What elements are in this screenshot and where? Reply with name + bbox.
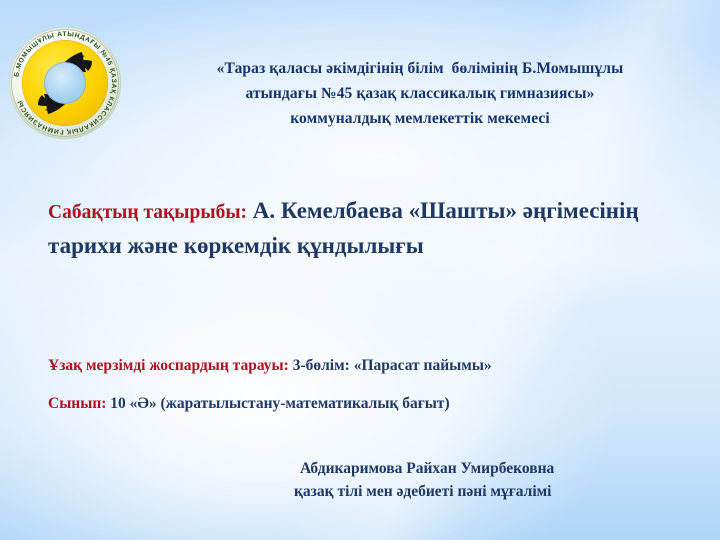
emblem-center-circle bbox=[44, 62, 86, 104]
long-term-plan-label: Ұзақ мерзімді жоспардың тарауы: bbox=[48, 357, 289, 374]
grade-line: Сынып: 10 «Ә» (жаратылыстану-математикал… bbox=[48, 392, 688, 416]
school-emblem-logo: Б.МОМЫШҰЛЫ АТЫНДАҒЫ №45 ҚАЗАҚ КЛАССИКАЛЫ… bbox=[9, 27, 121, 139]
long-term-plan-line: Ұзақ мерзімді жоспардың тарауы: 3-бөлім:… bbox=[48, 354, 688, 378]
long-term-plan-value: 3-бөлім: «Парасат пайымы» bbox=[289, 357, 492, 374]
slide-header: Б.МОМЫШҰЛЫ АТЫНДАҒЫ №45 ҚАЗАҚ КЛАССИКАЛЫ… bbox=[0, 0, 720, 155]
teacher-role: қазақ тілі мен әдебиеті пәні мұғалімі bbox=[294, 480, 720, 503]
presentation-slide: Б.МОМЫШҰЛЫ АТЫНДАҒЫ №45 ҚАЗАҚ КЛАССИКАЛЫ… bbox=[0, 0, 720, 540]
grade-label: Сынып: bbox=[48, 395, 106, 412]
teacher-name: Абдикаримова Райхан Умирбековна bbox=[300, 457, 720, 480]
teacher-credit-block: Абдикаримова Райхан Умирбековна қазақ ті… bbox=[300, 457, 720, 503]
lesson-topic-label: Сабақтың тақырыбы: bbox=[48, 202, 247, 223]
institution-title: «Тараз қаласы әкімдігінің білім бөліміні… bbox=[128, 56, 712, 131]
lesson-meta-block: Ұзақ мерзімді жоспардың тарауы: 3-бөлім:… bbox=[48, 354, 688, 416]
lesson-topic-block: Сабақтың тақырыбы: А. Кемелбаева «Шашты»… bbox=[48, 194, 684, 262]
grade-value: 10 «Ә» (жаратылыстану-математикалық бағы… bbox=[106, 395, 449, 412]
